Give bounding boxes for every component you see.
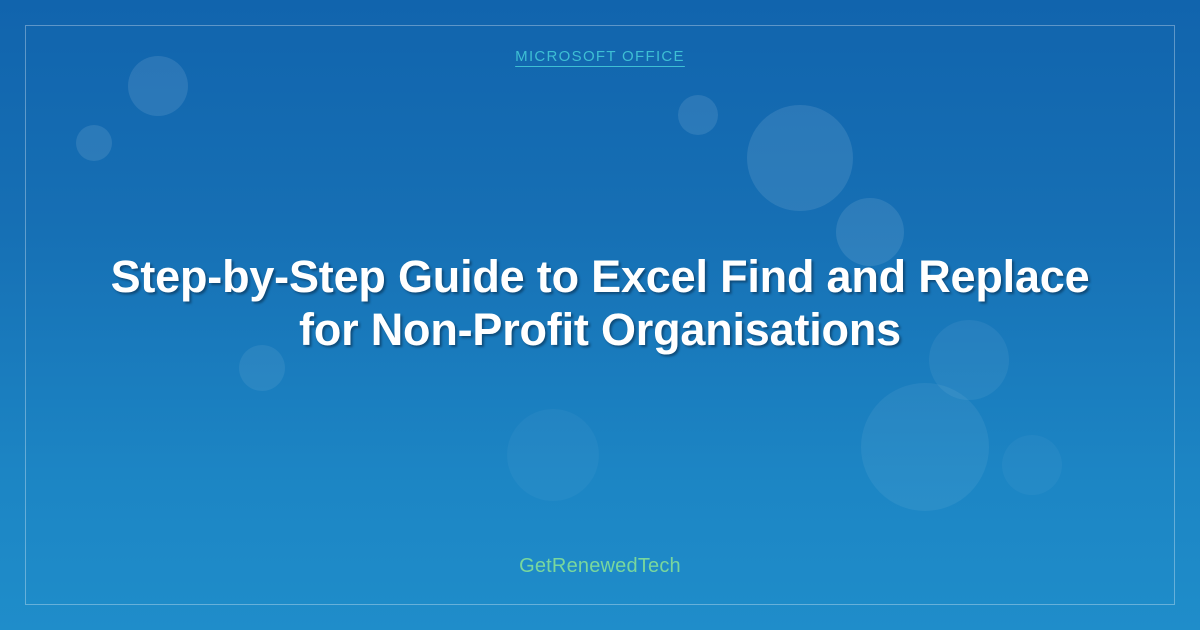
- brand-footer-label: GetRenewedTech: [519, 554, 681, 578]
- title-container: Step-by-Step Guide to Excel Find and Rep…: [60, 52, 1140, 554]
- social-share-card: MICROSOFT OFFICE Step-by-Step Guide to E…: [0, 0, 1200, 630]
- card-content: MICROSOFT OFFICE Step-by-Step Guide to E…: [0, 0, 1200, 630]
- page-title: Step-by-Step Guide to Excel Find and Rep…: [95, 250, 1105, 356]
